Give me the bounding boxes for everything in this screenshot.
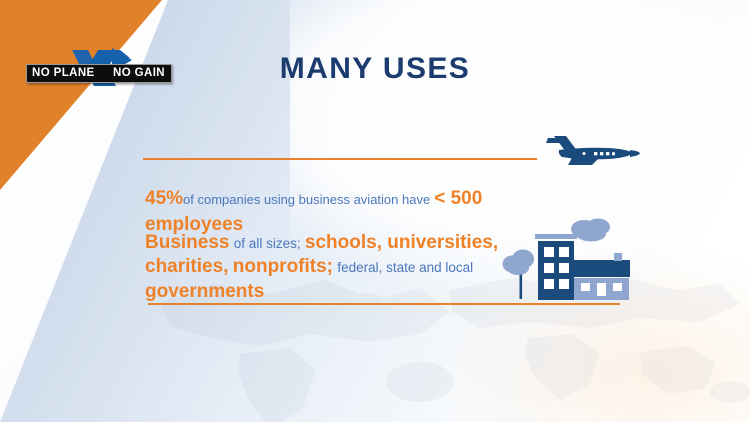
tree-icon — [503, 250, 535, 300]
stat-middle-text: of companies using business aviation hav… — [183, 192, 430, 207]
uses-nonprofits: nonprofits; — [233, 256, 333, 277]
orange-divider-bottom — [148, 303, 620, 305]
office-building-icon — [535, 234, 577, 300]
house-icon — [572, 253, 630, 300]
slide-canvas: NO PLANE NO GAIN MANY USES — [0, 0, 750, 422]
uses-governments: governments — [145, 281, 264, 302]
page-title: MANY USES — [0, 52, 750, 86]
uses-line: Business of all sizes; schools, universi… — [145, 231, 520, 304]
business-jet-icon — [542, 132, 642, 172]
city-buildings-illustration — [498, 212, 638, 305]
orange-divider-top — [143, 158, 537, 160]
uses-federal-state-local: federal, state and local — [337, 260, 473, 275]
stat-percentage: 45% — [145, 188, 183, 209]
uses-of-all-sizes: of all sizes; — [234, 236, 301, 251]
uses-business: Business — [145, 232, 229, 253]
